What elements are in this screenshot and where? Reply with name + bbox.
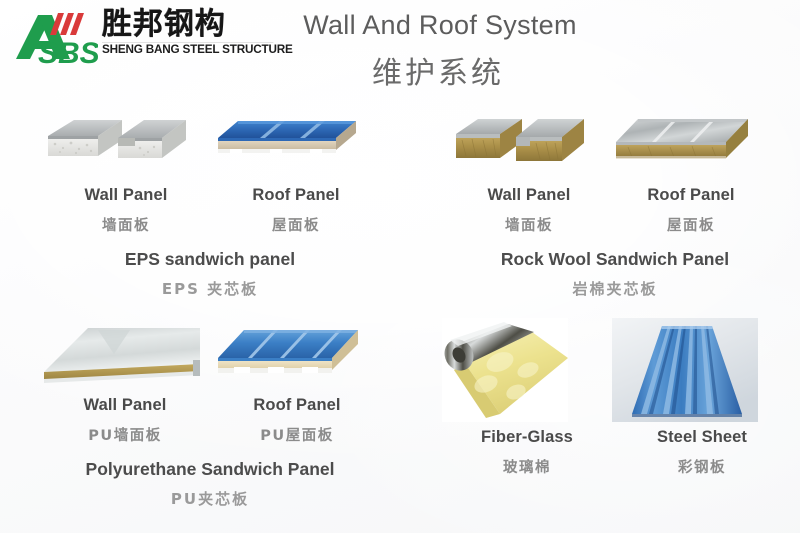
group-title-cn: PU夹芯板	[38, 488, 382, 509]
page-title-chinese: 维护系统	[0, 48, 800, 92]
product-label-cn: 墙面板	[450, 214, 608, 235]
product-label-cn: 彩钢板	[612, 456, 792, 477]
rockwool-wall-panel-image	[450, 108, 608, 180]
eps-wall-panel-image	[40, 108, 212, 180]
product-group-rockwool: Wall Panel 墙面板	[450, 108, 780, 299]
product-label-cn: PU屋面板	[212, 424, 382, 445]
product-label-en: Fiber-Glass	[442, 428, 612, 447]
product-label-en: Wall Panel	[450, 186, 608, 205]
product-item-eps-roof[interactable]: Roof Panel 屋面板	[212, 108, 380, 235]
product-label-cn: 屋面板	[608, 214, 774, 235]
product-label-cn: PU墙面板	[38, 424, 212, 445]
product-item-pu-wall[interactable]: Wall Panel PU墙面板	[38, 320, 212, 445]
product-label-en: Roof Panel	[212, 186, 380, 205]
product-label-cn: 玻璃棉	[442, 456, 612, 477]
steel-sheet-image	[612, 318, 792, 422]
product-label-cn: 屋面板	[212, 214, 380, 235]
product-label-en: Roof Panel	[608, 186, 774, 205]
product-group-pu: Wall Panel PU墙面板	[38, 320, 382, 509]
pu-roof-panel-image	[212, 320, 382, 390]
rockwool-roof-panel-image	[608, 108, 774, 180]
product-items-rockwool: Wall Panel 墙面板	[450, 108, 780, 235]
product-group-misc: Fiber-Glass 玻璃棉	[442, 318, 792, 477]
product-label-en: Wall Panel	[40, 186, 212, 205]
group-title-en: Polyurethane Sandwich Panel	[38, 459, 382, 480]
page-title-english: Wall And Roof System	[0, 10, 800, 41]
product-group-eps: Wall Panel 墙面板	[40, 108, 380, 299]
product-label-en: Roof Panel	[212, 396, 382, 415]
product-item-steelsheet[interactable]: Steel Sheet 彩钢板	[612, 318, 792, 477]
fiber-glass-image	[442, 318, 612, 422]
group-title-en: Rock Wool Sandwich Panel	[450, 249, 780, 270]
product-label-cn: 墙面板	[40, 214, 212, 235]
eps-roof-panel-image	[212, 108, 380, 180]
product-item-fiberglass[interactable]: Fiber-Glass 玻璃棉	[442, 318, 612, 477]
slide-canvas: SBS 胜邦钢构 SHENG BANG STEEL STRUCTURE Wall…	[0, 0, 800, 533]
group-title-en: EPS sandwich panel	[40, 249, 380, 270]
product-item-rockwool-roof[interactable]: Roof Panel 屋面板	[608, 108, 774, 235]
product-item-pu-roof[interactable]: Roof Panel PU屋面板	[212, 320, 382, 445]
product-items-misc: Fiber-Glass 玻璃棉	[442, 318, 792, 477]
pu-wall-panel-image	[38, 320, 212, 390]
product-item-rockwool-wall[interactable]: Wall Panel 墙面板	[450, 108, 608, 235]
product-label-en: Wall Panel	[38, 396, 212, 415]
group-title-cn: EPS 夹芯板	[40, 278, 380, 299]
product-items-eps: Wall Panel 墙面板	[40, 108, 380, 235]
product-items-pu: Wall Panel PU墙面板	[38, 320, 382, 445]
product-label-en: Steel Sheet	[612, 428, 792, 447]
product-item-eps-wall[interactable]: Wall Panel 墙面板	[40, 108, 212, 235]
group-title-cn: 岩棉夹芯板	[450, 278, 780, 299]
